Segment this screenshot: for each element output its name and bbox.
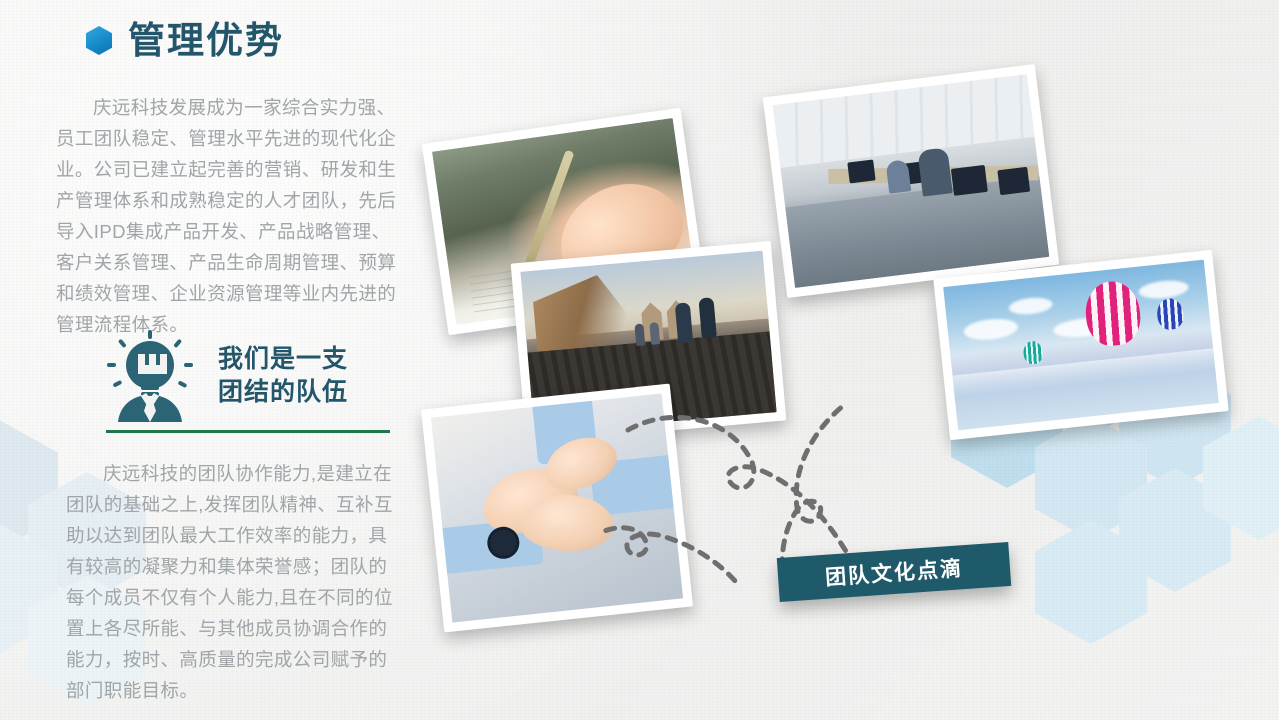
photo-office — [763, 64, 1060, 298]
photo-hands — [421, 384, 693, 633]
team-heading-block: 我们是一支 团结的队伍 — [104, 330, 394, 433]
lightbulb-person-icon — [104, 330, 196, 422]
page-title-block: 管理优势 — [86, 22, 284, 59]
photo-balloons — [933, 250, 1228, 440]
team-heading-underline — [106, 430, 390, 433]
slide-canvas: 管理优势 庆远科技发展成为一家综合实力强、员工团队稳定、管理水平先进的现代化企业… — [0, 0, 1279, 720]
team-heading-text: 我们是一支 团结的队伍 — [218, 343, 348, 409]
photo-bridge — [511, 241, 787, 443]
intro-paragraph: 庆远科技发展成为一家综合实力强、员工团队稳定、管理水平先进的现代化企业。公司已建… — [56, 92, 406, 340]
banner-label: 团队文化点滴 — [824, 552, 964, 592]
teamwork-paragraph: 庆远科技的团队协作能力,是建立在团队的基础之上,发挥团队精神、互补互助以达到团队… — [66, 458, 396, 706]
dashed-arrow-1 — [628, 417, 858, 572]
page-title: 管理优势 — [128, 22, 284, 59]
banner-team-culture: 团队文化点滴 — [777, 542, 1012, 602]
photo-writing — [422, 108, 707, 335]
dashed-arrow-3 — [600, 528, 736, 582]
hexagon-icon — [86, 26, 112, 55]
